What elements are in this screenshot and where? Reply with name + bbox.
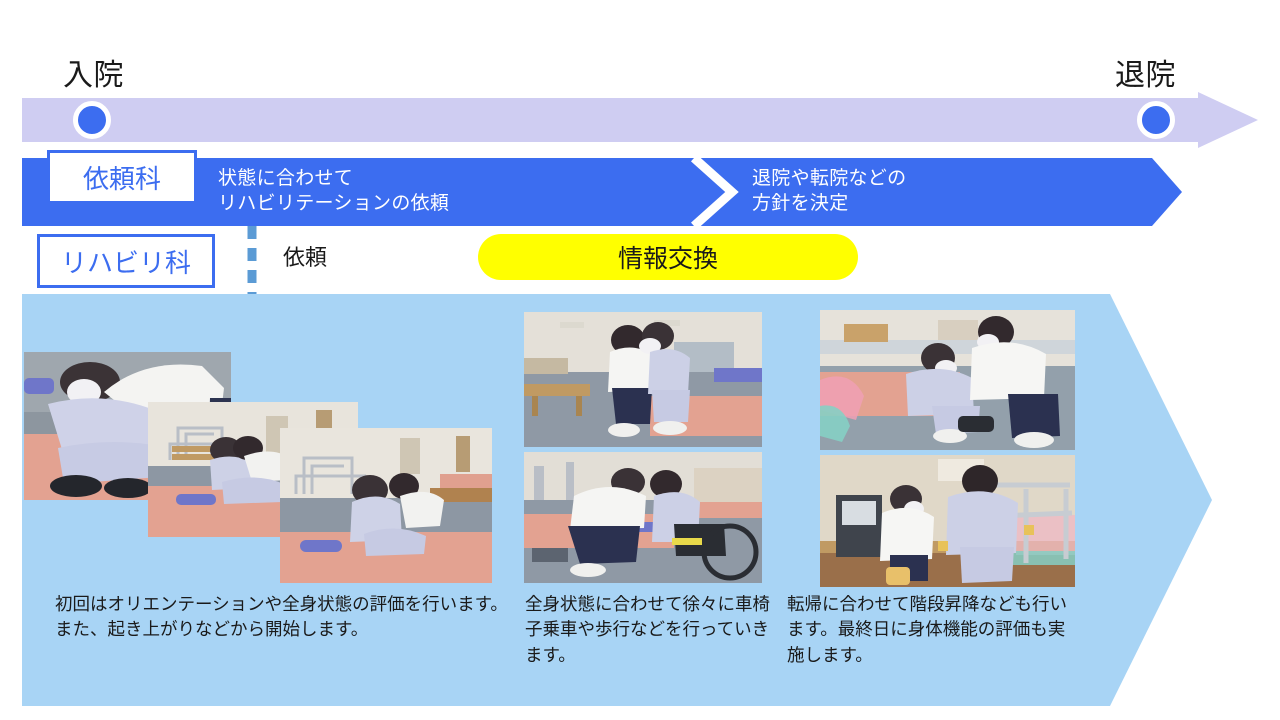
photo-stairs-and-final-1 bbox=[820, 310, 1075, 450]
information-exchange-badge: 情報交換 bbox=[478, 234, 858, 280]
caption-initial-assessment: 初回はオリエンテーションや全身状態の評価を行います。また、起き上がりなどから開始… bbox=[55, 592, 525, 643]
photo-transfer-and-gait-1 bbox=[524, 312, 762, 447]
photo-stairs-and-final-2 bbox=[820, 455, 1075, 587]
photo-initial-assessment-3 bbox=[280, 428, 492, 583]
requesting-department-label: 依頼科 bbox=[47, 150, 197, 204]
department-phase-1-text: 状態に合わせて リハビリテーションの依頼 bbox=[218, 166, 449, 216]
timeline-arrow bbox=[22, 92, 1258, 148]
request-label: 依頼 bbox=[283, 240, 327, 272]
admission-label: 入院 bbox=[63, 50, 124, 94]
caption-stairs-and-final: 転帰に合わせて階段昇降なども行います。最終日に身体機能の評価も実施します。 bbox=[787, 592, 1077, 668]
department-phase-2-text: 退院や転院などの 方針を決定 bbox=[752, 166, 906, 216]
photo-transfer-and-gait-2 bbox=[524, 452, 762, 583]
admission-marker-dot bbox=[73, 101, 111, 139]
discharge-label: 退院 bbox=[1115, 50, 1176, 94]
slide-canvas: 入院 退院 状態に合わせて リハビリテーションの依頼 退院や転院などの 方針を決… bbox=[0, 0, 1280, 720]
discharge-marker-dot bbox=[1137, 101, 1175, 139]
caption-transfer-and-gait: 全身状態に合わせて徐々に車椅子乗車や歩行などを行っていきます。 bbox=[525, 592, 775, 668]
rehabilitation-department-label: リハビリ科 bbox=[37, 234, 215, 288]
